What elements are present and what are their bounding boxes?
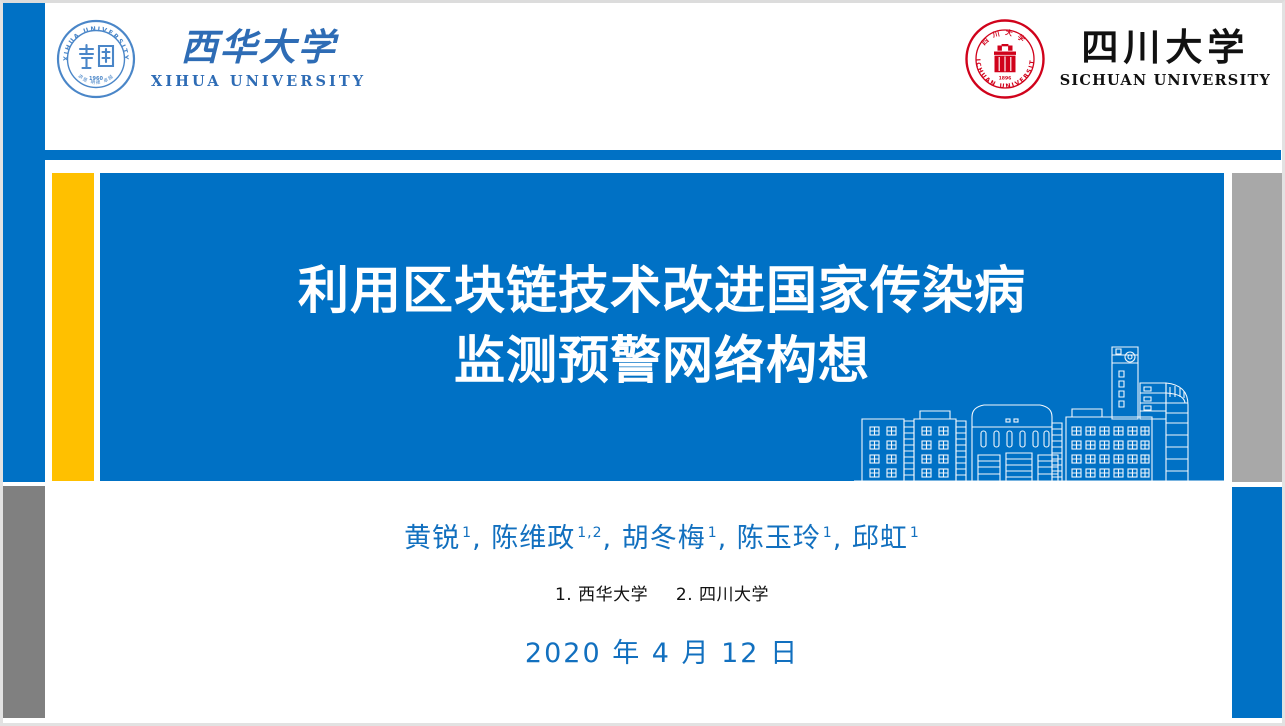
slide-title: 利用区块链技术改进国家传染病 监测预警网络构想 (100, 173, 1224, 481)
header-divider-rule (45, 150, 1281, 160)
author-name: 黄锐 (404, 523, 460, 554)
author-name: 胡冬梅 (622, 523, 706, 554)
affiliation-list: 1. 西华大学 2. 四川大学 (100, 580, 1224, 605)
author-separator: , (603, 523, 622, 554)
sichuan-university-seal-icon: SICHUAN UNIVERSITY 四川大学 (964, 18, 1046, 100)
sichuan-university-wordmark: 四川大学 SICHUAN UNIVERSITY (1060, 29, 1271, 89)
author-affiliation-mark: 1 (708, 525, 718, 541)
author-affiliation-mark: 1,2 (577, 525, 602, 541)
author-separator: , (718, 523, 737, 554)
yellow-accent-bar (52, 173, 94, 481)
author-name: 邱虹 (852, 523, 908, 554)
svg-text:1896: 1896 (998, 76, 1011, 82)
affiliation-item-1: 1. 西华大学 (555, 585, 648, 605)
presentation-date: 2020 年 4 月 12 日 (100, 631, 1224, 670)
slide-header: XIHUA UNIVERSITY 求是 明德 卓越 (45, 0, 1281, 150)
affiliation-item-2: 2. 四川大学 (676, 585, 769, 605)
xihua-university-logo: XIHUA UNIVERSITY 求是 明德 卓越 (55, 18, 366, 100)
slide-meta-block: 黄锐1, 陈维政1,2, 胡冬梅1, 陈玉玲1, 邱虹1 1. 西华大学 2. … (100, 500, 1224, 670)
author-list: 黄锐1, 陈维政1,2, 胡冬梅1, 陈玉玲1, 邱虹1 (100, 516, 1224, 555)
author-affiliation-mark: 1 (462, 525, 472, 541)
svg-text:1960: 1960 (89, 76, 103, 82)
xihua-name-en: XIHUA UNIVERSITY (151, 75, 366, 90)
xihua-university-seal-icon: XIHUA UNIVERSITY 求是 明德 卓越 (55, 18, 137, 100)
author-separator: , (472, 523, 491, 554)
author-separator: , (833, 523, 852, 554)
sichuan-name-cn: 四川大学 (1081, 29, 1249, 66)
left-gray-accent-bar (3, 486, 45, 718)
title-line-2: 监测预警网络构想 (454, 329, 870, 395)
right-blue-accent-bar (1232, 487, 1282, 718)
sichuan-university-logo: SICHUAN UNIVERSITY 四川大学 (964, 18, 1271, 100)
sichuan-name-en: SICHUAN UNIVERSITY (1060, 74, 1271, 89)
xihua-name-cn: 西华大学 (181, 29, 337, 66)
author-affiliation-mark: 1 (910, 525, 920, 541)
title-banner: 利用区块链技术改进国家传染病 监测预警网络构想 (100, 173, 1224, 481)
right-gray-accent-bar (1232, 173, 1282, 482)
title-line-1: 利用区块链技术改进国家传染病 (298, 259, 1026, 325)
presentation-slide: XIHUA UNIVERSITY 求是 明德 卓越 (0, 0, 1285, 726)
author-name: 陈玉玲 (737, 523, 821, 554)
author-name: 陈维政 (491, 523, 575, 554)
xihua-university-wordmark: 西华大学 XIHUA UNIVERSITY (151, 29, 366, 90)
author-affiliation-mark: 1 (823, 525, 833, 541)
left-blue-accent-bar (3, 3, 45, 482)
